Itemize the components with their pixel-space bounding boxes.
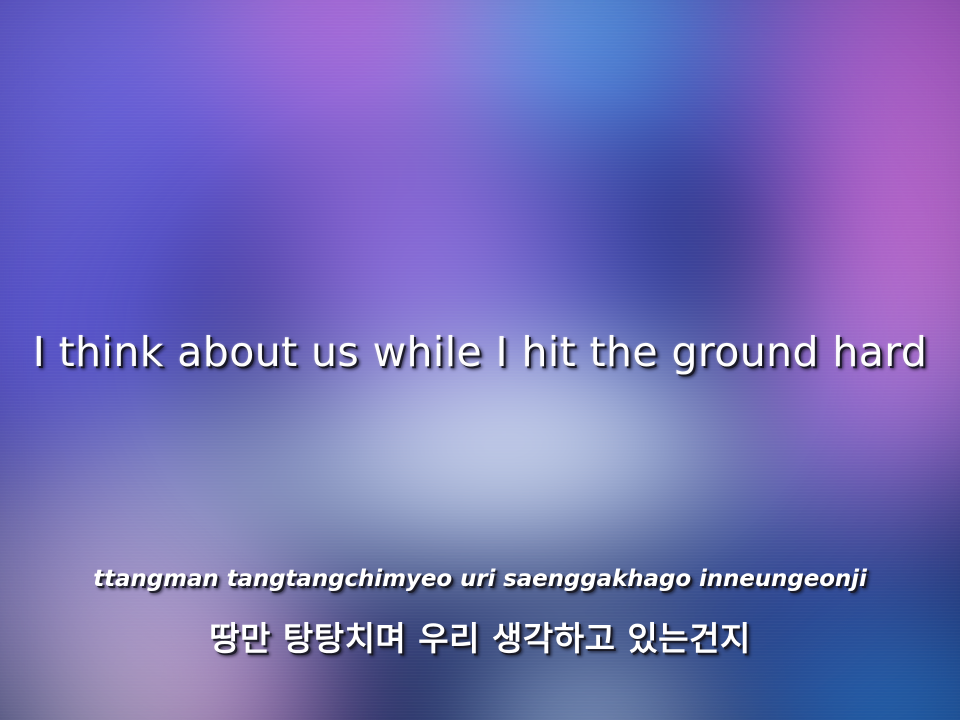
subtitle-english-translation: I think about us while I hit the ground … <box>0 330 960 376</box>
subtitle-overlay: I think about us while I hit the ground … <box>0 0 960 720</box>
subtitle-korean-original: 땅만 탕탕치며 우리 생각하고 있는건지 <box>0 612 960 660</box>
lyric-video-frame: I think about us while I hit the ground … <box>0 0 960 720</box>
subtitle-romanization: ttangman tangtangchimyeo uri saenggakhag… <box>0 566 960 592</box>
